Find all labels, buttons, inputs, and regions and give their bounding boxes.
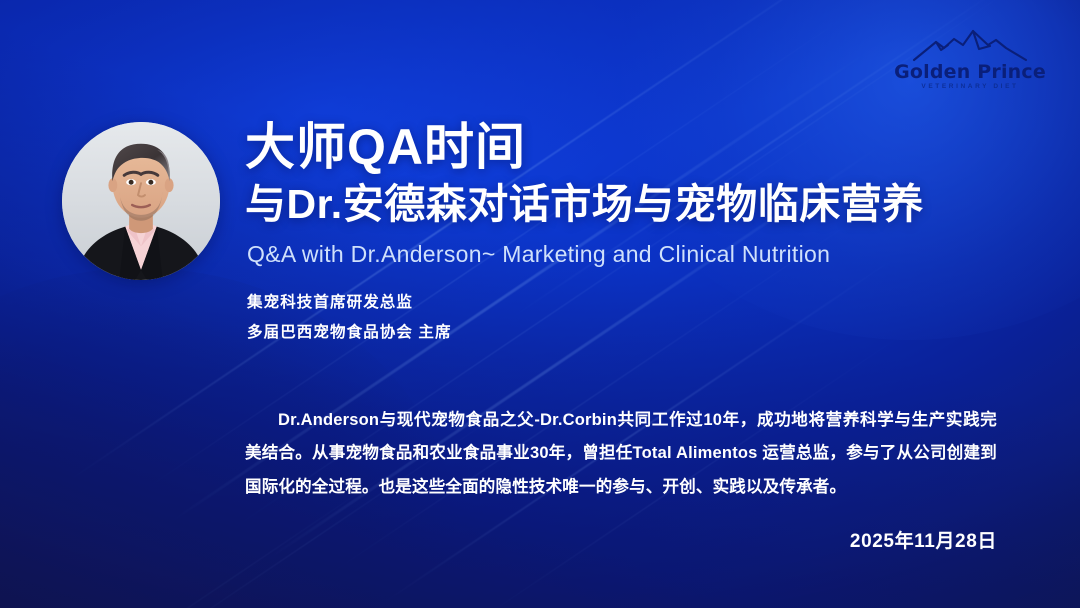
poster-content: 大师QA时间 与Dr.安德森对话市场与宠物临床营养 Q&A with Dr.An… [245,0,997,608]
title-sub: 与Dr.安德森对话市场与宠物临床营养 [245,184,924,225]
poster-canvas: Golden Prince VETERINARY DIET [0,0,1080,608]
speaker-bio: Dr.Anderson与现代宠物食品之父-Dr.Corbin共同工作过10年，成… [245,404,997,504]
speaker-portrait [62,122,220,280]
speaker-credentials: 集宠科技首席研发总监 多届巴西宠物食品协会 主席 [247,295,807,340]
title-main: 大师QA时间 [245,122,526,172]
title-english: Q&A with Dr.Anderson~ Marketing and Clin… [247,241,830,269]
portrait-illustration [62,122,220,280]
credential-line: 多届巴西宠物食品协会 主席 [247,325,807,341]
event-date: 2025年11月28日 [850,532,997,551]
credential-line: 集宠科技首席研发总监 [247,295,807,311]
